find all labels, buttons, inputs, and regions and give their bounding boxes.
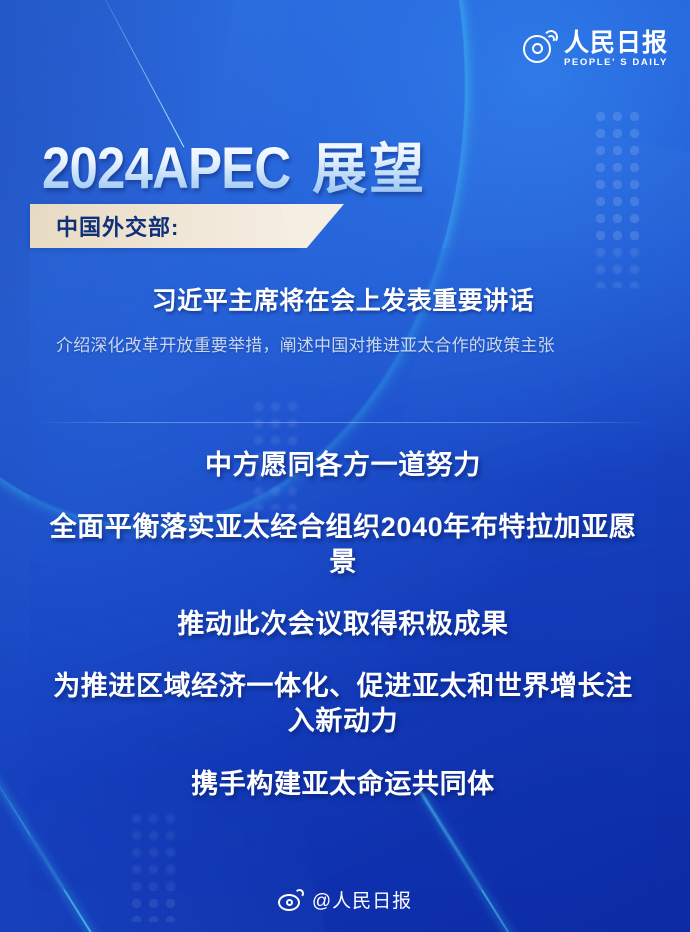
headline-text: 习近平主席将在会上发表重要讲话 xyxy=(30,281,656,317)
list-item: 全面平衡落实亚太经合组织2040年布特拉加亚愿景 xyxy=(46,510,640,580)
subtitle-text: 介绍深化改革开放重要举措，阐述中国对推进亚太合作的政策主张 xyxy=(56,332,634,360)
poster-canvas: 人民日报 PEOPLE' S DAILY 2024APEC 展望 中国外交部: … xyxy=(0,0,690,932)
page-title: 2024APEC 展望 xyxy=(42,124,426,204)
footer-attribution: @人民日报 xyxy=(0,886,690,913)
logo-chinese-name: 人民日报 xyxy=(564,30,668,56)
at-sign-icon xyxy=(523,32,557,66)
list-item: 中方愿同各方一道努力 xyxy=(46,448,640,483)
list-item: 为推进区域经济一体化、促进亚太和世界增长注入新动力 xyxy=(46,669,640,739)
page-title-chinese: 展望 xyxy=(312,124,426,204)
peoples-daily-logo: 人民日报 PEOPLE' S DAILY xyxy=(523,30,668,69)
list-item: 推动此次会议取得积极成果 xyxy=(46,607,640,642)
bullet-list: 中方愿同各方一道努力 全面平衡落实亚太经合组织2040年布特拉加亚愿景 推动此次… xyxy=(46,448,640,802)
page-title-english: 2024APEC xyxy=(42,135,290,202)
footer-handle: @人民日报 xyxy=(312,886,412,913)
section-divider xyxy=(32,422,654,423)
logo-english-name: PEOPLE' S DAILY xyxy=(564,57,668,68)
list-item: 携手构建亚太命运共同体 xyxy=(46,767,640,802)
source-label: 中国外交部: xyxy=(56,210,179,242)
source-banner: 中国外交部: xyxy=(30,204,298,248)
weibo-icon xyxy=(278,889,304,911)
